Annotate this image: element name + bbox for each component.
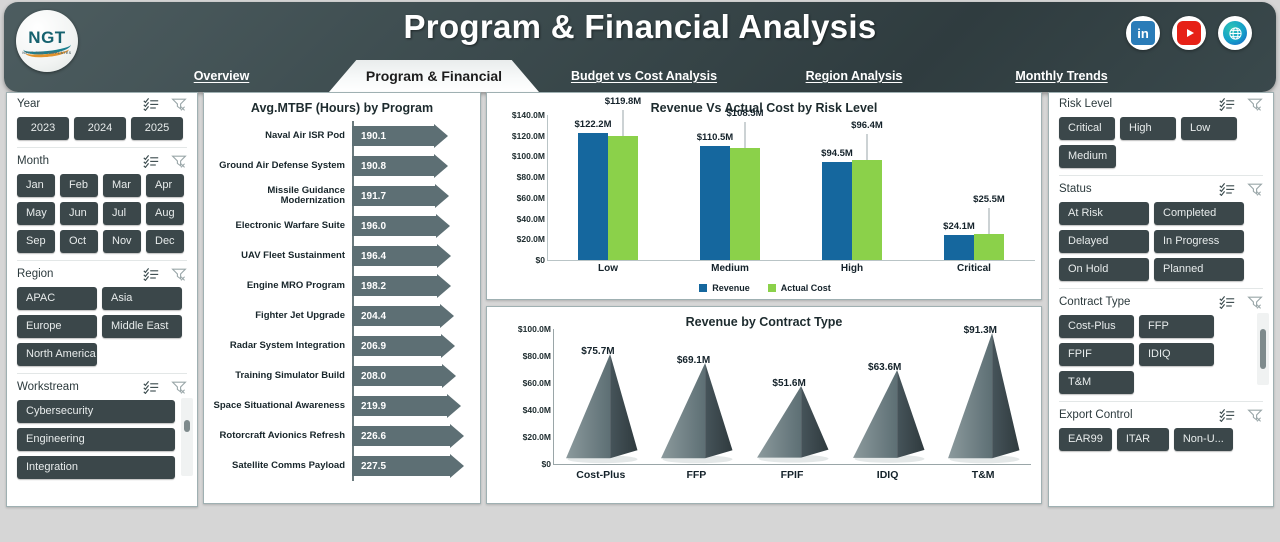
mtbf-arrow-head bbox=[437, 244, 451, 268]
mtbf-bar: 196.4 bbox=[352, 246, 437, 266]
mtbf-category-label: Satellite Comms Payload bbox=[204, 461, 352, 471]
filter-chip-group: CriticalHighLowMedium bbox=[1049, 115, 1273, 172]
mtbf-bar: 206.9 bbox=[352, 336, 441, 356]
left-filter-panel: Year 202320242025Month JanFebMarAprMay bbox=[6, 92, 198, 507]
multi-select-button[interactable] bbox=[143, 97, 159, 111]
revenue-vs-cost-panel: Revenue Vs Actual Cost by Risk Level $0$… bbox=[486, 92, 1042, 300]
revenue-chart-title: Revenue Vs Actual Cost by Risk Level bbox=[487, 93, 1041, 115]
clear-filter-icon bbox=[1247, 182, 1263, 196]
x-axis-label: IDIQ bbox=[840, 469, 936, 481]
mtbf-category-label: Radar System Integration bbox=[204, 341, 352, 351]
y-axis-tick: $60.0M bbox=[523, 378, 551, 388]
mtbf-row: Satellite Comms Payload227.5 bbox=[204, 451, 480, 481]
nav-tabs: Overview Program & Financial Budget vs C… bbox=[4, 60, 1276, 92]
mtbf-bar: 204.4 bbox=[352, 306, 440, 326]
filter-header-year: Year bbox=[7, 93, 197, 115]
filter-title: Workstream bbox=[17, 381, 79, 393]
mtbf-category-label: Electronic Warfare Suite bbox=[204, 221, 352, 231]
pyramid-value-label: $75.7M bbox=[581, 346, 614, 357]
filter-chip[interactable]: Asia bbox=[102, 287, 182, 310]
app-header: NGT NEXT GEN TEMPLATES Program & Financi… bbox=[4, 2, 1276, 92]
pyramid-cell: $69.1M bbox=[649, 329, 745, 464]
filter-scrollbar[interactable] bbox=[181, 398, 193, 476]
contract-x-labels: Cost-PlusFFPFPIFIDIQT&M bbox=[553, 469, 1031, 481]
filter-divider bbox=[1059, 288, 1263, 289]
mtbf-value-label: 206.9 bbox=[361, 341, 386, 352]
filter-divider bbox=[17, 373, 187, 374]
filter-chip[interactable]: Middle East bbox=[102, 315, 182, 338]
mtbf-value-label: 196.0 bbox=[361, 221, 386, 232]
filter-chip[interactable]: North America bbox=[17, 343, 97, 366]
x-axis-label: T&M bbox=[935, 469, 1031, 481]
filter-header-region: Region bbox=[7, 263, 197, 285]
mtbf-bar-area: 190.1 bbox=[352, 125, 480, 147]
revenue-bar: $24.1M bbox=[944, 235, 974, 260]
tab-region-analysis[interactable]: Region Analysis bbox=[769, 60, 939, 92]
revenue-x-labels: LowMediumHighCritical bbox=[547, 263, 1035, 274]
actual-cost-bar: $25.5M bbox=[974, 234, 1004, 260]
y-axis-tick: $100.0M bbox=[512, 151, 545, 161]
pyramid-shape bbox=[945, 333, 1021, 464]
revenue-bar: $110.5M bbox=[700, 146, 730, 260]
mtbf-bar-area: 227.5 bbox=[352, 455, 480, 477]
tab-budget-vs-cost-analysis[interactable]: Budget vs Cost Analysis bbox=[549, 60, 739, 92]
mtbf-bar: 191.7 bbox=[352, 186, 435, 206]
filter-chip[interactable]: Aug bbox=[146, 202, 184, 225]
mtbf-row: Radar System Integration206.9 bbox=[204, 331, 480, 361]
x-axis-label: FPIF bbox=[744, 469, 840, 481]
filter-chip[interactable]: EAR99 bbox=[1059, 428, 1112, 451]
bar-value-label: $122.2M bbox=[575, 119, 612, 130]
filter-chip-group: CybersecurityEngineeringIntegration bbox=[7, 398, 197, 483]
multi-select-button[interactable] bbox=[1219, 408, 1235, 422]
mtbf-category-label: Missile Guidance Modernization bbox=[204, 186, 352, 206]
logo-subtitle: NEXT GEN TEMPLATES bbox=[22, 51, 71, 55]
legend-item: Revenue bbox=[699, 283, 750, 293]
filter-chip[interactable]: 2023 bbox=[17, 117, 69, 140]
scrollbar-thumb[interactable] bbox=[184, 420, 190, 432]
multi-select-icon bbox=[143, 97, 159, 111]
filter-scrollbar[interactable] bbox=[1257, 313, 1269, 385]
filter-chip[interactable]: May bbox=[17, 202, 55, 225]
contract-y-axis: $0$20.0M$40.0M$60.0M$80.0M$100.0M bbox=[493, 329, 551, 464]
revenue-bar: $94.5M bbox=[822, 162, 852, 260]
logo-text: NGT bbox=[28, 28, 65, 48]
y-axis-tick: $0 bbox=[536, 255, 545, 265]
bar-value-label: $108.5M bbox=[727, 108, 764, 119]
bar-value-label: $110.5M bbox=[697, 132, 733, 143]
mtbf-arrow-head bbox=[450, 424, 464, 448]
mtbf-arrow-head bbox=[437, 274, 451, 298]
contract-plot: $0$20.0M$40.0M$60.0M$80.0M$100.0M $75.7M bbox=[487, 329, 1043, 494]
mtbf-category-label: Naval Air ISR Pod bbox=[204, 131, 352, 141]
filter-chip[interactable]: In Progress bbox=[1154, 230, 1244, 253]
filter-header-month: Month bbox=[7, 150, 197, 172]
filter-divider bbox=[1059, 401, 1263, 402]
filter-title: Region bbox=[17, 268, 53, 280]
filter-chip[interactable]: Sep bbox=[17, 230, 55, 253]
multi-select-icon bbox=[1219, 295, 1235, 309]
filter-chip[interactable]: Jan bbox=[17, 174, 55, 197]
filter-chip[interactable]: Cybersecurity bbox=[17, 400, 175, 423]
mtbf-bar: 227.5 bbox=[352, 456, 450, 476]
youtube-icon bbox=[1177, 21, 1201, 45]
mtbf-bar-area: 191.7 bbox=[352, 185, 480, 207]
y-axis-tick: $140.0M bbox=[512, 110, 545, 120]
mtbf-row: Electronic Warfare Suite196.0 bbox=[204, 211, 480, 241]
mtbf-value-label: 190.1 bbox=[361, 131, 386, 142]
filter-chip[interactable]: Feb bbox=[60, 174, 98, 197]
filter-header-status: Status bbox=[1049, 178, 1273, 200]
revenue-legend: RevenueActual Cost bbox=[487, 283, 1043, 293]
mtbf-arrow-head bbox=[447, 394, 461, 418]
filter-chip[interactable]: Jun bbox=[60, 202, 98, 225]
youtube-button[interactable] bbox=[1172, 16, 1206, 50]
filter-chip[interactable]: Integration bbox=[17, 456, 175, 479]
mtbf-category-label: Training Simulator Build bbox=[204, 371, 352, 381]
mtbf-bar: 219.9 bbox=[352, 396, 447, 416]
multi-select-button[interactable] bbox=[1219, 97, 1235, 111]
y-axis-tick: $40.0M bbox=[517, 214, 545, 224]
filter-title: Month bbox=[17, 155, 49, 167]
mtbf-arrow-head bbox=[434, 124, 448, 148]
x-axis-label: Cost-Plus bbox=[553, 469, 649, 481]
clear-filter-button[interactable] bbox=[1247, 97, 1263, 111]
filter-chip-group: APACAsiaEuropeMiddle EastNorth America bbox=[7, 285, 197, 370]
mtbf-value-label: 191.7 bbox=[361, 191, 386, 202]
y-axis-tick: $100.0M bbox=[518, 324, 551, 334]
legend-label: Revenue bbox=[712, 283, 750, 293]
multi-select-icon bbox=[1219, 408, 1235, 422]
filter-chip[interactable]: Engineering bbox=[17, 428, 175, 451]
mtbf-chart-title: Avg.MTBF (Hours) by Program bbox=[204, 93, 480, 115]
mtbf-bar-area: 198.2 bbox=[352, 275, 480, 297]
y-axis-tick: $40.0M bbox=[523, 405, 551, 415]
filter-divider bbox=[17, 260, 187, 261]
mtbf-value-label: 227.5 bbox=[361, 461, 386, 472]
dashboard-root: NGT NEXT GEN TEMPLATES Program & Financi… bbox=[0, 0, 1280, 542]
mtbf-bar-area: 190.8 bbox=[352, 155, 480, 177]
pyramid-value-label: $63.6M bbox=[868, 362, 901, 373]
bar-group: $24.1M$25.5M bbox=[913, 115, 1035, 260]
filter-chip[interactable]: 2024 bbox=[74, 117, 126, 140]
legend-item: Actual Cost bbox=[768, 283, 831, 293]
contract-baseline bbox=[553, 464, 1031, 465]
filter-chip[interactable]: T&M bbox=[1059, 371, 1134, 394]
contract-type-panel: Revenue by Contract Type $0$20.0M$40.0M$… bbox=[486, 306, 1042, 504]
y-axis-tick: $0 bbox=[542, 459, 551, 469]
legend-swatch bbox=[699, 284, 707, 292]
clear-filter-icon bbox=[171, 97, 187, 111]
legend-label: Actual Cost bbox=[781, 283, 831, 293]
mtbf-value-label: 204.4 bbox=[361, 311, 386, 322]
filter-chip-group: EAR99ITARNon-U... bbox=[1049, 426, 1273, 455]
filter-chip[interactable]: High bbox=[1120, 117, 1176, 140]
label-leader-line bbox=[867, 134, 868, 160]
mtbf-arrow-head bbox=[440, 304, 454, 328]
mtbf-row: Ground Air Defense System190.8 bbox=[204, 151, 480, 181]
x-axis-label: Low bbox=[547, 263, 669, 274]
clear-filter-icon bbox=[1247, 97, 1263, 111]
mtbf-arrow-head bbox=[436, 214, 450, 238]
mtbf-category-label: Fighter Jet Upgrade bbox=[204, 311, 352, 321]
mtbf-bar: 190.1 bbox=[352, 126, 434, 146]
multi-select-icon bbox=[143, 154, 159, 168]
right-filter-panel: Risk Level CriticalHighLowMediumStatus bbox=[1048, 92, 1274, 507]
mtbf-category-label: Space Situational Awareness bbox=[204, 401, 352, 411]
filter-divider bbox=[1059, 175, 1263, 176]
mtbf-value-label: 198.2 bbox=[361, 281, 386, 292]
y-axis-tick: $20.0M bbox=[517, 234, 545, 244]
filter-header-export-control: Export Control bbox=[1049, 404, 1273, 426]
pyramid-shape bbox=[850, 370, 926, 464]
pyramid-value-label: $69.1M bbox=[677, 355, 710, 366]
mtbf-bar: 190.8 bbox=[352, 156, 434, 176]
mtbf-bar-area: 226.6 bbox=[352, 425, 480, 447]
filter-chip[interactable]: Europe bbox=[17, 315, 97, 338]
bar-group: $110.5M$108.5M bbox=[669, 115, 791, 260]
bar-group: $122.2M$119.8M bbox=[547, 115, 669, 260]
x-axis-label: High bbox=[791, 263, 913, 274]
pyramid-shape bbox=[563, 354, 639, 464]
filter-chip[interactable]: ITAR bbox=[1117, 428, 1169, 451]
mtbf-row: Rotorcraft Avionics Refresh226.6 bbox=[204, 421, 480, 451]
y-axis-tick: $60.0M bbox=[517, 193, 545, 203]
multi-select-button[interactable] bbox=[143, 267, 159, 281]
filter-chip-group: 202320242025 bbox=[7, 115, 197, 144]
pyramid-shape bbox=[658, 363, 734, 464]
actual-cost-bar: $108.5M bbox=[730, 148, 760, 260]
contract-pyramids: $75.7M $69.1M $5 bbox=[553, 329, 1031, 464]
tab-program-financial[interactable]: Program & Financial bbox=[329, 60, 539, 92]
pyramid-shape bbox=[754, 386, 830, 464]
bar-value-label: $94.5M bbox=[821, 148, 853, 159]
revenue-plot: $0$20.0M$40.0M$60.0M$80.0M$100.0M$120.0M… bbox=[487, 115, 1043, 290]
filter-chip-group: JanFebMarAprMayJunJulAugSepOctNovDec bbox=[7, 172, 197, 257]
label-leader-line bbox=[989, 208, 990, 234]
linkedin-icon: in bbox=[1131, 21, 1155, 45]
filter-chip[interactable]: Delayed bbox=[1059, 230, 1149, 253]
tab-monthly-trends[interactable]: Monthly Trends bbox=[974, 60, 1149, 92]
page-title: Program & Financial Analysis bbox=[4, 8, 1276, 46]
clear-filter-button[interactable] bbox=[1247, 295, 1263, 309]
filter-chip[interactable]: Oct bbox=[60, 230, 98, 253]
mtbf-category-label: Rotorcraft Avionics Refresh bbox=[204, 431, 352, 441]
mtbf-arrow-head bbox=[434, 154, 448, 178]
revenue-y-axis: $0$20.0M$40.0M$60.0M$80.0M$100.0M$120.0M… bbox=[493, 115, 545, 260]
mtbf-category-label: Engine MRO Program bbox=[204, 281, 352, 291]
filter-chip[interactable]: Mar bbox=[103, 174, 141, 197]
revenue-bar-groups: $122.2M$119.8M$110.5M$108.5M$94.5M$96.4M… bbox=[547, 115, 1035, 260]
linkedin-button[interactable]: in bbox=[1126, 16, 1160, 50]
multi-select-button[interactable] bbox=[143, 380, 159, 394]
scrollbar-thumb[interactable] bbox=[1260, 329, 1266, 369]
filter-chip[interactable]: On Hold bbox=[1059, 258, 1149, 281]
website-button[interactable] bbox=[1218, 16, 1252, 50]
multi-select-icon bbox=[1219, 182, 1235, 196]
filter-chip[interactable]: Nov bbox=[103, 230, 141, 253]
revenue-baseline bbox=[547, 260, 1035, 261]
mtbf-value-label: 226.6 bbox=[361, 431, 386, 442]
filter-chip[interactable]: At Risk bbox=[1059, 202, 1149, 225]
filter-title: Contract Type bbox=[1059, 296, 1130, 308]
revenue-bar: $122.2M bbox=[578, 133, 608, 260]
label-leader-line bbox=[745, 122, 746, 148]
mtbf-arrow-head bbox=[450, 454, 464, 478]
clear-filter-icon bbox=[171, 380, 187, 394]
mtbf-bar-area: 219.9 bbox=[352, 395, 480, 417]
mtbf-arrow-head bbox=[442, 364, 456, 388]
filter-chip[interactable]: Low bbox=[1181, 117, 1237, 140]
filter-chip[interactable]: Jul bbox=[103, 202, 141, 225]
mtbf-value-label: 196.4 bbox=[361, 251, 386, 262]
mtbf-row: UAV Fleet Sustainment196.4 bbox=[204, 241, 480, 271]
mtbf-row: Fighter Jet Upgrade204.4 bbox=[204, 301, 480, 331]
filter-chip[interactable]: Cost-Plus bbox=[1059, 315, 1134, 338]
bar-value-label: $119.8M bbox=[605, 96, 641, 107]
clear-filter-icon bbox=[171, 154, 187, 168]
mtbf-arrow-head bbox=[435, 184, 449, 208]
y-axis-tick: $20.0M bbox=[523, 432, 551, 442]
pyramid-value-label: $51.6M bbox=[772, 378, 805, 389]
x-axis-label: Medium bbox=[669, 263, 791, 274]
filter-chip[interactable]: Apr bbox=[146, 174, 184, 197]
x-axis-label: Critical bbox=[913, 263, 1035, 274]
bar-group: $94.5M$96.4M bbox=[791, 115, 913, 260]
mtbf-row: Space Situational Awareness219.9 bbox=[204, 391, 480, 421]
mtbf-row: Training Simulator Build208.0 bbox=[204, 361, 480, 391]
mtbf-bar: 208.0 bbox=[352, 366, 442, 386]
filter-chip-group: Cost-PlusFFPFPIFIDIQT&M bbox=[1049, 313, 1273, 398]
mtbf-bar-area: 204.4 bbox=[352, 305, 480, 327]
clear-filter-button[interactable] bbox=[171, 97, 187, 111]
clear-filter-button[interactable] bbox=[171, 380, 187, 394]
multi-select-icon bbox=[1219, 97, 1235, 111]
filter-title: Export Control bbox=[1059, 409, 1133, 421]
legend-swatch bbox=[768, 284, 776, 292]
clear-filter-icon bbox=[1247, 408, 1263, 422]
mtbf-value-label: 208.0 bbox=[361, 371, 386, 382]
globe-icon bbox=[1223, 21, 1247, 45]
multi-select-button[interactable] bbox=[143, 154, 159, 168]
filter-header-contract-type: Contract Type bbox=[1049, 291, 1273, 313]
filter-title: Year bbox=[17, 98, 40, 110]
mtbf-row: Engine MRO Program198.2 bbox=[204, 271, 480, 301]
mtbf-bar: 196.0 bbox=[352, 216, 436, 236]
filter-header-risk-level: Risk Level bbox=[1049, 93, 1273, 115]
filter-chip[interactable]: FPIF bbox=[1059, 343, 1134, 366]
y-axis-tick: $80.0M bbox=[517, 172, 545, 182]
pyramid-cell: $51.6M bbox=[744, 329, 840, 464]
bar-value-label: $25.5M bbox=[973, 194, 1005, 205]
mtbf-row: Missile Guidance Modernization191.7 bbox=[204, 181, 480, 211]
social-links: in bbox=[1126, 16, 1252, 50]
y-axis-tick: $80.0M bbox=[523, 351, 551, 361]
label-leader-line bbox=[623, 110, 624, 136]
multi-select-button[interactable] bbox=[1219, 295, 1235, 309]
mtbf-bar-area: 196.4 bbox=[352, 245, 480, 267]
mtbf-bar: 226.6 bbox=[352, 426, 450, 446]
filter-chip[interactable]: IDIQ bbox=[1139, 343, 1214, 366]
actual-cost-bar: $96.4M bbox=[852, 160, 882, 260]
mtbf-arrow-head bbox=[441, 334, 455, 358]
actual-cost-bar: $119.8M bbox=[608, 136, 638, 260]
filter-header-workstream: Workstream bbox=[7, 376, 197, 398]
filter-title: Risk Level bbox=[1059, 98, 1112, 110]
mtbf-row: Naval Air ISR Pod190.1 bbox=[204, 121, 480, 151]
mtbf-bar-area: 196.0 bbox=[352, 215, 480, 237]
multi-select-button[interactable] bbox=[1219, 182, 1235, 196]
clear-filter-button[interactable] bbox=[1247, 182, 1263, 196]
tab-overview[interactable]: Overview bbox=[154, 60, 289, 92]
mtbf-bars: Naval Air ISR Pod190.1Ground Air Defense… bbox=[204, 121, 480, 481]
filter-chip[interactable]: Non-U... bbox=[1174, 428, 1233, 451]
filter-divider bbox=[17, 147, 187, 148]
contract-chart-title: Revenue by Contract Type bbox=[487, 307, 1041, 329]
filter-chip[interactable]: FFP bbox=[1139, 315, 1214, 338]
mtbf-category-label: Ground Air Defense System bbox=[204, 161, 352, 171]
clear-filter-icon bbox=[171, 267, 187, 281]
pyramid-cell: $75.7M bbox=[553, 329, 649, 464]
filter-chip[interactable]: 2025 bbox=[131, 117, 183, 140]
clear-filter-icon bbox=[1247, 295, 1263, 309]
mtbf-value-label: 190.8 bbox=[361, 161, 386, 172]
filter-chip[interactable]: Medium bbox=[1059, 145, 1116, 168]
mtbf-bar-area: 206.9 bbox=[352, 335, 480, 357]
x-axis-label: FFP bbox=[649, 469, 745, 481]
bar-value-label: $24.1M bbox=[943, 221, 975, 232]
mtbf-bar: 198.2 bbox=[352, 276, 437, 296]
filter-chip[interactable]: APAC bbox=[17, 287, 97, 310]
mtbf-category-label: UAV Fleet Sustainment bbox=[204, 251, 352, 261]
filter-chip[interactable]: Completed bbox=[1154, 202, 1244, 225]
pyramid-value-label: $91.3M bbox=[964, 325, 997, 336]
mtbf-chart-panel: Avg.MTBF (Hours) by Program Naval Air IS… bbox=[203, 92, 481, 504]
clear-filter-button[interactable] bbox=[171, 154, 187, 168]
pyramid-cell: $63.6M bbox=[840, 329, 936, 464]
filter-chip[interactable]: Planned bbox=[1154, 258, 1244, 281]
multi-select-icon bbox=[143, 380, 159, 394]
filter-chip-group: At RiskCompletedDelayedIn ProgressOn Hol… bbox=[1049, 200, 1273, 285]
filter-title: Status bbox=[1059, 183, 1092, 195]
multi-select-icon bbox=[143, 267, 159, 281]
pyramid-cell: $91.3M bbox=[935, 329, 1031, 464]
mtbf-bar-area: 208.0 bbox=[352, 365, 480, 387]
clear-filter-button[interactable] bbox=[171, 267, 187, 281]
filter-chip[interactable]: Critical bbox=[1059, 117, 1115, 140]
mtbf-value-label: 219.9 bbox=[361, 401, 386, 412]
filter-chip[interactable]: Dec bbox=[146, 230, 184, 253]
y-axis-tick: $120.0M bbox=[512, 131, 545, 141]
clear-filter-button[interactable] bbox=[1247, 408, 1263, 422]
bar-value-label: $96.4M bbox=[851, 120, 883, 131]
